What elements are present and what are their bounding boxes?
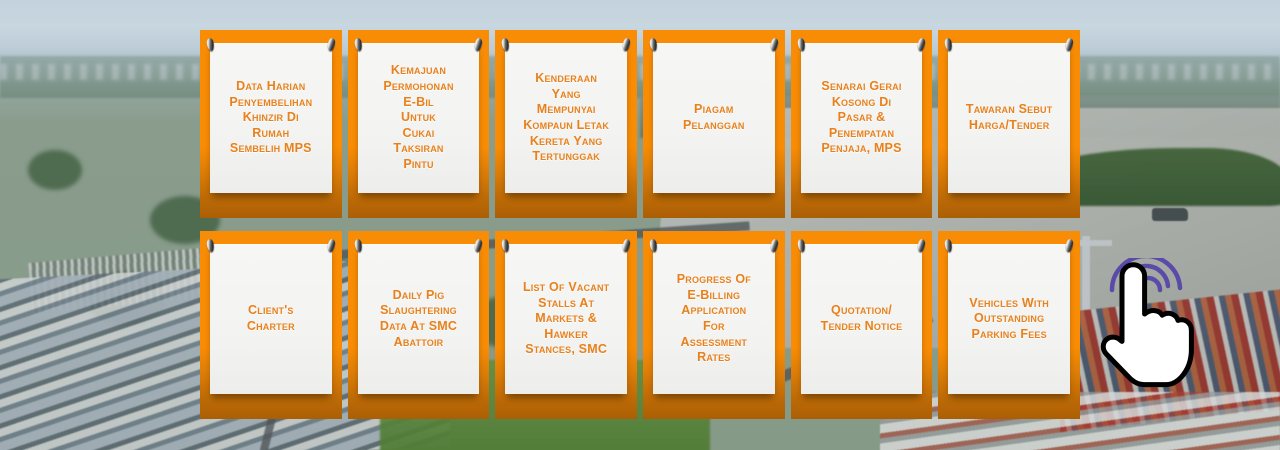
pin-icon — [206, 239, 215, 253]
card-title: Progress Of e-Billing Application For As… — [677, 272, 751, 366]
quick-link-card-8[interactable]: Daily Pig Slaughtering Data At SMC Abatt… — [348, 231, 490, 419]
card-title: Daily Pig Slaughtering Data At SMC Abatt… — [380, 288, 457, 351]
card-title: Client's Charter — [247, 303, 295, 334]
pin-icon — [797, 38, 806, 52]
card-sheet: Senarai Gerai Kosong di Pasar & Penempat… — [801, 43, 923, 193]
background-tree — [28, 150, 82, 190]
card-sheet: Data Harian Penyembelihan Khinzir Di Rum… — [210, 43, 332, 193]
pin-icon — [917, 38, 926, 52]
pin-icon — [770, 38, 779, 52]
card-sheet: Piagam Pelanggan — [653, 43, 775, 193]
quick-link-card-5[interactable]: Senarai Gerai Kosong di Pasar & Penempat… — [791, 30, 933, 218]
card-title: Vehicles With Outstanding Parking Fees — [969, 296, 1049, 343]
card-title: Senarai Gerai Kosong di Pasar & Penempat… — [821, 79, 901, 157]
pin-icon — [327, 38, 336, 52]
pin-icon — [944, 239, 953, 253]
card-sheet: List Of Vacant Stalls At Markets & Hawke… — [505, 244, 627, 394]
card-sheet: Progress Of e-Billing Application For As… — [653, 244, 775, 394]
pin-icon — [474, 38, 483, 52]
card-sheet: Quotation/ Tender Notice — [801, 244, 923, 394]
card-title: List Of Vacant Stalls At Markets & Hawke… — [523, 280, 609, 358]
card-sheet: Kemajuan Permohonan e-Bil Untuk Cukai Ta… — [358, 43, 480, 193]
card-title: Tawaran Sebut Harga/Tender — [966, 102, 1053, 133]
card-title: Piagam Pelanggan — [683, 102, 745, 133]
pin-icon — [354, 38, 363, 52]
card-sheet: Kenderaan Yang Mempunyai Kompaun Letak K… — [505, 43, 627, 193]
pin-icon — [1065, 239, 1074, 253]
card-sheet: Tawaran Sebut Harga/Tender — [948, 43, 1070, 193]
card-sheet: Vehicles With Outstanding Parking Fees — [948, 244, 1070, 394]
quick-link-card-10[interactable]: Progress Of e-Billing Application For As… — [643, 231, 785, 419]
pin-icon — [354, 239, 363, 253]
quick-link-card-1[interactable]: Data Harian Penyembelihan Khinzir Di Rum… — [200, 30, 342, 218]
pin-icon — [917, 239, 926, 253]
quick-link-card-9[interactable]: List Of Vacant Stalls At Markets & Hawke… — [495, 231, 637, 419]
pin-icon — [474, 239, 483, 253]
pin-icon — [501, 38, 510, 52]
pin-icon — [797, 239, 806, 253]
quick-link-card-3[interactable]: Kenderaan Yang Mempunyai Kompaun Letak K… — [495, 30, 637, 218]
pin-icon — [206, 38, 215, 52]
quick-link-card-2[interactable]: Kemajuan Permohonan e-Bil Untuk Cukai Ta… — [348, 30, 490, 218]
pin-icon — [501, 239, 510, 253]
pin-icon — [649, 38, 658, 52]
card-title: Quotation/ Tender Notice — [821, 303, 903, 334]
quick-links-grid: Data Harian Penyembelihan Khinzir Di Rum… — [200, 30, 1080, 419]
quick-link-card-11[interactable]: Quotation/ Tender Notice — [791, 231, 933, 419]
page-root: Data Harian Penyembelihan Khinzir Di Rum… — [0, 0, 1280, 450]
pin-icon — [327, 239, 336, 253]
quick-link-card-7[interactable]: Client's Charter — [200, 231, 342, 419]
pin-icon — [944, 38, 953, 52]
pin-icon — [1065, 38, 1074, 52]
background-barge — [1152, 208, 1188, 221]
quick-link-card-6[interactable]: Tawaran Sebut Harga/Tender — [938, 30, 1080, 218]
quick-link-card-4[interactable]: Piagam Pelanggan — [643, 30, 785, 218]
pin-icon — [770, 239, 779, 253]
card-title: Kenderaan Yang Mempunyai Kompaun Letak K… — [523, 71, 609, 165]
pin-icon — [622, 239, 631, 253]
card-title: Kemajuan Permohonan e-Bil Untuk Cukai Ta… — [383, 63, 453, 172]
pin-icon — [622, 38, 631, 52]
card-sheet: Client's Charter — [210, 244, 332, 394]
quick-link-card-12[interactable]: Vehicles With Outstanding Parking Fees — [938, 231, 1080, 419]
pin-icon — [649, 239, 658, 253]
card-sheet: Daily Pig Slaughtering Data At SMC Abatt… — [358, 244, 480, 394]
card-title: Data Harian Penyembelihan Khinzir Di Rum… — [229, 79, 312, 157]
